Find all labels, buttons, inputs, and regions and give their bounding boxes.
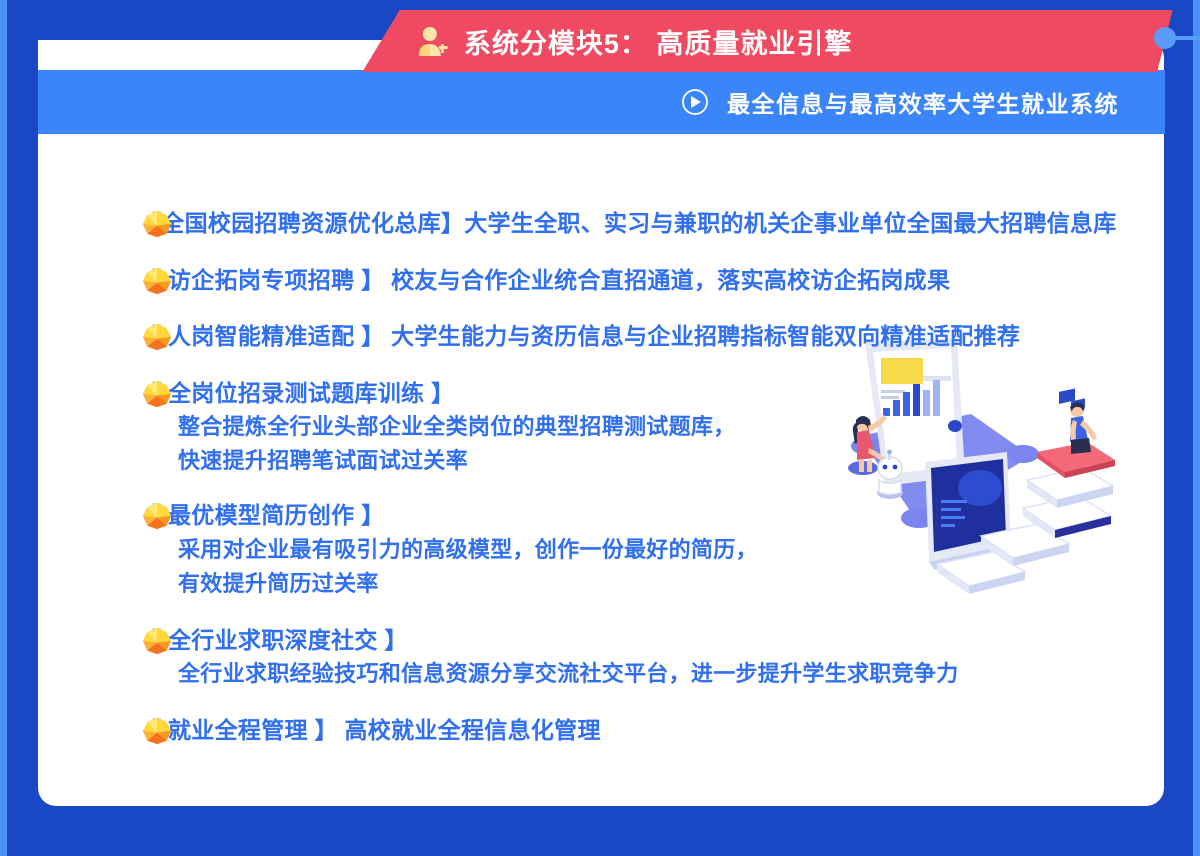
subheader-inner: 最全信息与最高效率大学生就业系统 bbox=[681, 85, 1119, 119]
module-banner-title: 系统分模块5： 高质量就业引擎 bbox=[464, 22, 853, 61]
list-item-heading: 【 全行业求职深度社交 】 bbox=[138, 623, 1164, 658]
list-item-body: 【全国校园招聘资源优化总库】大学生全职、实习与兼职的机关企事业单位全国最大招聘信… bbox=[138, 206, 1164, 241]
gem-icon bbox=[142, 627, 172, 655]
list-item-detail: 整合提炼全行业头部企业全类岗位的典型招聘测试题库， bbox=[138, 410, 1164, 444]
list-item[interactable]: 【 全行业求职深度社交 】 全行业求职经验技巧和信息资源分享交流社交平台，进一步… bbox=[76, 623, 1164, 692]
list-item[interactable]: 【 全岗位招录测试题库训练 】 整合提炼全行业头部企业全类岗位的典型招聘测试题库… bbox=[76, 376, 1164, 479]
gem-icon bbox=[142, 380, 172, 408]
feature-list: 【全国校园招聘资源优化总库】大学生全职、实习与兼职的机关企事业单位全国最大招聘信… bbox=[76, 180, 1164, 806]
list-item-body: 【 最优模型简历创作 】 采用对企业最有吸引力的高级模型，创作一份最好的简历， … bbox=[138, 498, 1164, 601]
decor-dot bbox=[1154, 27, 1176, 49]
left-edge-strip bbox=[0, 0, 7, 856]
list-item-body: 【 就业全程管理 】 高校就业全程信息化管理 bbox=[138, 713, 1164, 748]
gem-icon bbox=[142, 210, 172, 238]
user-add-icon bbox=[418, 25, 448, 57]
list-item[interactable]: 【 人岗智能精准适配 】 大学生能力与资历信息与企业招聘指标智能双向精准适配推荐 bbox=[76, 319, 1164, 354]
right-edge-strip bbox=[1193, 0, 1200, 856]
list-item-body: 【 全岗位招录测试题库训练 】 整合提炼全行业头部企业全类岗位的典型招聘测试题库… bbox=[138, 376, 1164, 479]
list-item-body: 【 人岗智能精准适配 】 大学生能力与资历信息与企业招聘指标智能双向精准适配推荐 bbox=[138, 319, 1164, 354]
list-item[interactable]: 【全国校园招聘资源优化总库】大学生全职、实习与兼职的机关企事业单位全国最大招聘信… bbox=[76, 206, 1164, 241]
list-item-heading: 【 全岗位招录测试题库训练 】 bbox=[138, 376, 1164, 411]
gem-icon bbox=[142, 323, 172, 351]
list-item-detail: 快速提升招聘笔试面试过关率 bbox=[138, 444, 1164, 478]
list-item-heading: 【 最优模型简历创作 】 bbox=[138, 498, 1164, 533]
play-circle-icon bbox=[681, 88, 709, 116]
gem-icon bbox=[142, 717, 172, 745]
list-item[interactable]: 【 就业全程管理 】 高校就业全程信息化管理 bbox=[76, 713, 1164, 748]
list-item[interactable]: 【 最优模型简历创作 】 采用对企业最有吸引力的高级模型，创作一份最好的简历， … bbox=[76, 498, 1164, 601]
module-banner-inner: 系统分模块5： 高质量就业引擎 bbox=[370, 22, 1165, 61]
module-banner: 系统分模块5： 高质量就业引擎 bbox=[362, 10, 1172, 72]
subheader-title: 最全信息与最高效率大学生就业系统 bbox=[727, 85, 1119, 119]
list-item-body: 【 访企拓岗专项招聘 】 校友与合作企业统合直招通道，落实高校访企拓岗成果 bbox=[138, 263, 1164, 298]
list-item-heading: 【 人岗智能精准适配 】 大学生能力与资历信息与企业招聘指标智能双向精准适配推荐 bbox=[138, 319, 1164, 354]
list-item-heading: 【 访企拓岗专项招聘 】 校友与合作企业统合直招通道，落实高校访企拓岗成果 bbox=[138, 263, 1164, 298]
gem-icon bbox=[142, 502, 172, 530]
list-item-detail: 有效提升简历过关率 bbox=[138, 567, 1164, 601]
list-item-heading: 【 就业全程管理 】 高校就业全程信息化管理 bbox=[138, 713, 1164, 748]
content-card: 【全国校园招聘资源优化总库】大学生全职、实习与兼职的机关企事业单位全国最大招聘信… bbox=[38, 40, 1164, 806]
list-item-body: 【 全行业求职深度社交 】 全行业求职经验技巧和信息资源分享交流社交平台，进一步… bbox=[138, 623, 1164, 692]
list-item-heading: 【全国校园招聘资源优化总库】大学生全职、实习与兼职的机关企事业单位全国最大招聘信… bbox=[138, 206, 1164, 241]
subheader-bar: 最全信息与最高效率大学生就业系统 bbox=[38, 70, 1165, 134]
list-item-detail: 全行业求职经验技巧和信息资源分享交流社交平台，进一步提升学生求职竞争力 bbox=[138, 657, 1164, 691]
gem-icon bbox=[142, 267, 172, 295]
list-item[interactable]: 【 访企拓岗专项招聘 】 校友与合作企业统合直招通道，落实高校访企拓岗成果 bbox=[76, 263, 1164, 298]
list-item-detail: 采用对企业最有吸引力的高级模型，创作一份最好的简历， bbox=[138, 533, 1164, 567]
